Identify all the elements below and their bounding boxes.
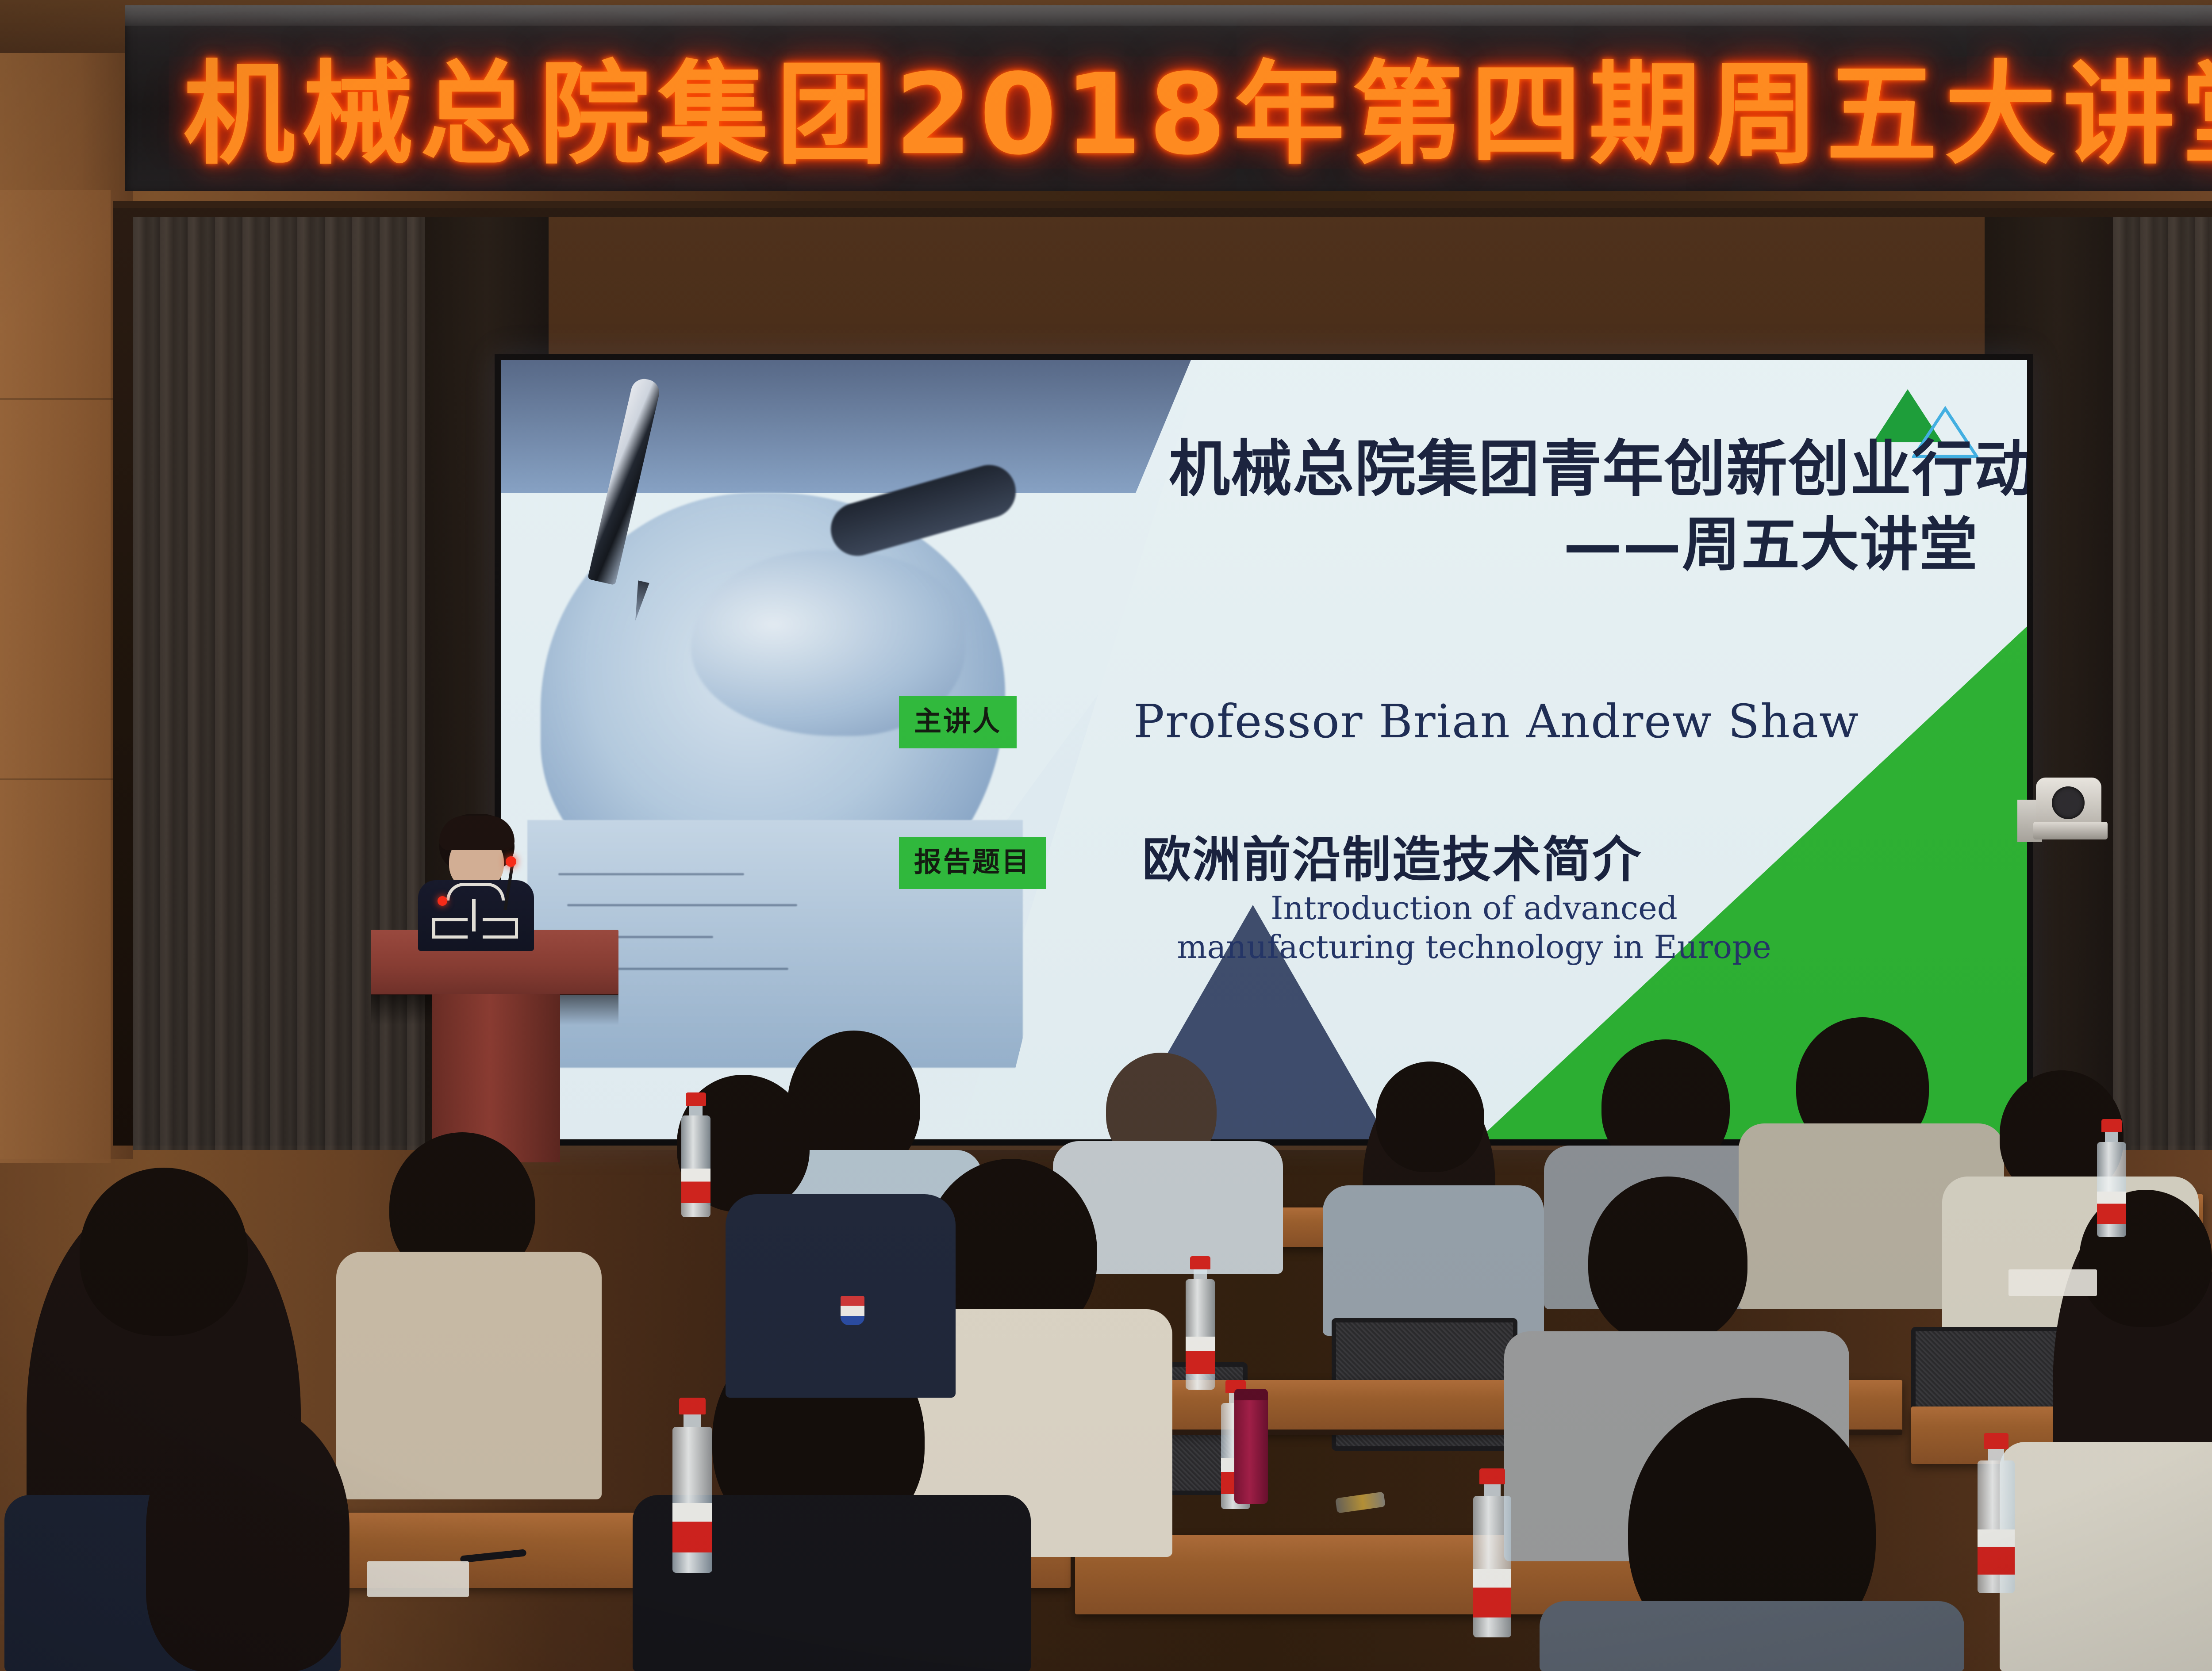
slide-speaker-tag: 主讲人: [899, 696, 1017, 748]
audience-head: [80, 1168, 248, 1336]
projection-screen-frame: 机械总院集团青年创新创业行动 ——周五大讲堂 主讲人 Professor Bri…: [495, 354, 2033, 1146]
presenter-jacket-collar-trim: [446, 883, 505, 901]
water-bottle: [1186, 1256, 1215, 1390]
audience-body: [1540, 1601, 1964, 1671]
presenter-jacket-trim-left: [432, 918, 468, 939]
slide-subtitle: ——周五大讲堂: [1169, 516, 1978, 574]
wall-panel-left-inner: [0, 190, 111, 1163]
audience-body: [336, 1252, 602, 1499]
water-bottle: [672, 1398, 712, 1573]
lapel-indicator-led: [438, 896, 447, 906]
slide-topic-cn: 欧洲前沿制造技术简介: [1142, 820, 1642, 891]
led-banner: 机械总院集团2018年第四期周五大讲堂: [125, 5, 2212, 191]
water-bottle: [1978, 1433, 2015, 1593]
projection-screen: 机械总院集团青年创新创业行动 ——周五大讲堂 主讲人 Professor Bri…: [501, 360, 2027, 1139]
audience-body-polo: [726, 1194, 956, 1398]
presenter-at-podium: [405, 814, 546, 947]
led-banner-text: 机械总院集团2018年第四期周五大讲堂: [183, 24, 2212, 185]
paper-sheet: [367, 1561, 469, 1597]
slide-speaker-name: Professor Brian Andrew Shaw: [1133, 694, 1859, 748]
podium: [371, 930, 618, 1160]
wall-camera-icon: [2017, 765, 2119, 847]
thermos-flask: [1234, 1389, 1268, 1504]
water-bottle: [1473, 1468, 1511, 1637]
audience-head: [1376, 1062, 1484, 1172]
audience-hair: [146, 1407, 349, 1671]
camera-base: [2033, 822, 2108, 839]
slide-title: 机械总院集团青年创新创业行动: [1169, 439, 1978, 500]
slide-topic-en: Introduction of advanced manufacturing t…: [1142, 889, 1806, 967]
slide-topic-tag: 报告题目: [899, 837, 1046, 889]
stage-curtain-right: [2113, 217, 2212, 1150]
paper-sheet: [2008, 1269, 2097, 1296]
slide-topic-en-line2: manufacturing technology in Europe: [1142, 928, 1806, 967]
lecture-hall-photo: 机械总院集团2018年第四期周五大讲堂: [0, 0, 2212, 1671]
camera-lens: [2052, 786, 2085, 819]
presenter-fringe: [439, 816, 515, 850]
presenter-jacket-trim-right: [483, 918, 518, 939]
slide-topic-en-line1: Introduction of advanced: [1142, 889, 1806, 928]
university-crest-icon: [841, 1296, 864, 1325]
water-bottle: [681, 1092, 710, 1217]
presenter-jacket-placket: [472, 899, 476, 931]
audience-body: [2000, 1442, 2212, 1671]
water-bottle: [2097, 1119, 2126, 1237]
audience-head: [1588, 1177, 1747, 1345]
photo-top-band: [501, 360, 1191, 493]
audience-body: [1323, 1185, 1544, 1336]
microphone-indicator-led: [506, 856, 516, 867]
